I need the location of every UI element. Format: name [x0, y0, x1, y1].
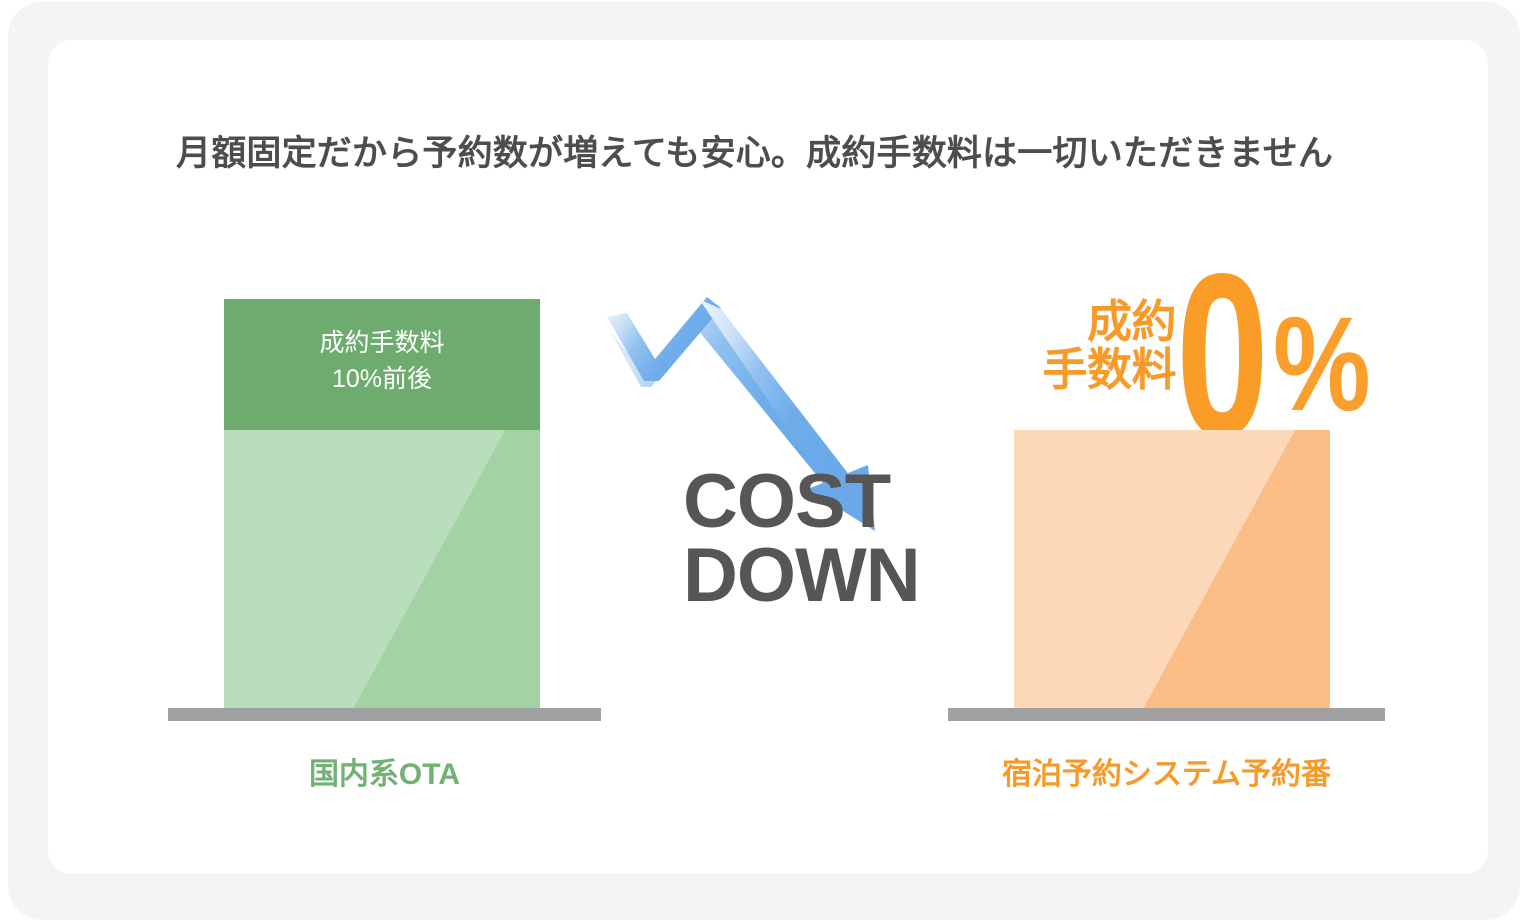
down-label: DOWN — [683, 539, 903, 613]
bar-shade-face — [224, 430, 540, 708]
content-card: 月額固定だから予約数が増えても安心。成約手数料は一切いただきません 成約手数料 … — [48, 40, 1488, 874]
bar-caption-yoyakuban: 宿泊予約システム予約番 — [948, 749, 1385, 793]
cost-label: COST — [683, 465, 903, 539]
percent-sign: % — [1273, 298, 1371, 432]
baseline-right — [948, 708, 1385, 721]
zero-commission-highlight: 成約 手数料 0 % — [1008, 248, 1388, 438]
page-title: 月額固定だから予約数が増えても安心。成約手数料は一切いただきません — [176, 133, 1333, 175]
bar-domestic-ota: 成約手数料 10%前後 — [224, 299, 540, 708]
zero-word-line-1: 成約 — [1008, 298, 1176, 346]
bar-segment-base-cost — [224, 430, 540, 708]
page-background-panel: 月額固定だから予約数が増えても安心。成約手数料は一切いただきません 成約手数料 … — [8, 2, 1520, 920]
bar-shade-face — [1014, 430, 1330, 708]
bar-yoyakuban — [1014, 430, 1330, 708]
zero-commission-words: 成約 手数料 — [1008, 298, 1176, 393]
baseline-left — [168, 708, 601, 721]
cost-down-text: COST DOWN — [603, 465, 903, 614]
zero-word-line-2: 手数料 — [1008, 346, 1176, 394]
bar-caption-domestic-ota: 国内系OTA — [168, 749, 601, 793]
bar-segment-label: 成約手数料 10%前後 — [224, 326, 540, 397]
